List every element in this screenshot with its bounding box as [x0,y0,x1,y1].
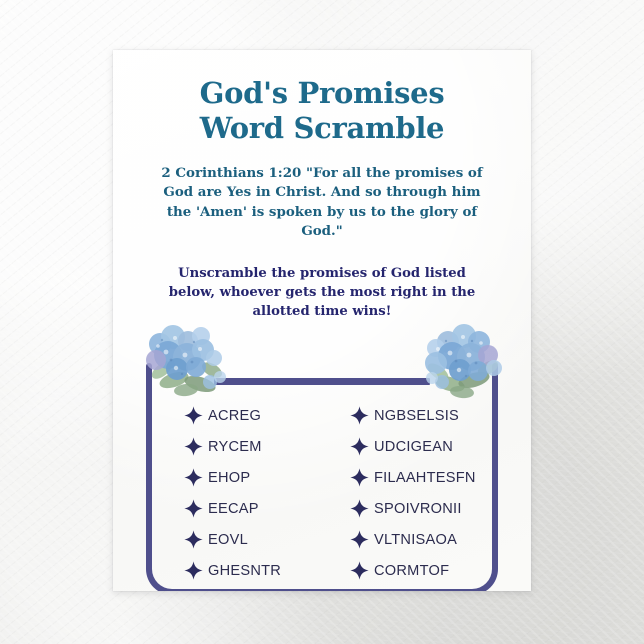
page-title: God's Promises Word Scramble [113,76,531,147]
word-label: SPOIVRONII [374,501,462,517]
list-item[interactable]: GHESNTR [184,555,322,586]
title-line-1: God's Promises [113,76,531,111]
four-point-sparkle-icon [350,406,369,425]
four-point-sparkle-icon [184,561,203,580]
list-item[interactable]: EECAP [184,493,322,524]
four-point-sparkle-icon [350,530,369,549]
list-item[interactable]: UDCIGEAN [350,431,498,462]
list-item[interactable]: ACREG [184,400,322,431]
four-point-sparkle-icon [184,406,203,425]
word-label: FILAAHTESFN [374,470,476,486]
list-item[interactable]: CORMTOF [350,555,498,586]
word-label: RYCEM [208,439,262,455]
list-item[interactable]: SPOIVRONII [350,493,498,524]
word-label: CORMTOF [374,563,449,579]
list-item[interactable]: FILAAHTESFN [350,462,498,493]
list-item[interactable]: RYCEM [184,431,322,462]
four-point-sparkle-icon [350,561,369,580]
word-label: EHOP [208,470,250,486]
word-label: VLTNISAOA [374,532,457,548]
word-label: EECAP [208,501,259,517]
word-list: ACREG RYCEM EHOP EECAP EOVL [146,400,498,586]
word-column-left: ACREG RYCEM EHOP EECAP EOVL [146,400,322,586]
list-item[interactable]: VLTNISAOA [350,524,498,555]
word-label: EOVL [208,532,248,548]
four-point-sparkle-icon [184,499,203,518]
title-line-2: Word Scramble [113,111,531,146]
word-label: ACREG [208,408,261,424]
four-point-sparkle-icon [350,468,369,487]
word-label: UDCIGEAN [374,439,453,455]
postcard: God's Promises Word Scramble 2 Corinthia… [113,50,531,591]
word-label: NGBSELSIS [374,408,459,424]
scripture-verse: 2 Corinthians 1:20 "For all the promises… [152,164,492,242]
word-label: GHESNTR [208,563,281,579]
list-item[interactable]: EOVL [184,524,322,555]
frame-top-bar [214,378,430,385]
four-point-sparkle-icon [350,499,369,518]
four-point-sparkle-icon [184,437,203,456]
four-point-sparkle-icon [350,437,369,456]
four-point-sparkle-icon [184,468,203,487]
verse-line-3: spoken by us to the glory of God." [269,204,477,239]
four-point-sparkle-icon [184,530,203,549]
list-item[interactable]: EHOP [184,462,322,493]
list-item[interactable]: NGBSELSIS [350,400,498,431]
word-column-right: NGBSELSIS UDCIGEAN FILAAHTESFN SPOIVRONI… [322,400,498,586]
word-list-frame: ACREG RYCEM EHOP EECAP EOVL [113,312,531,591]
